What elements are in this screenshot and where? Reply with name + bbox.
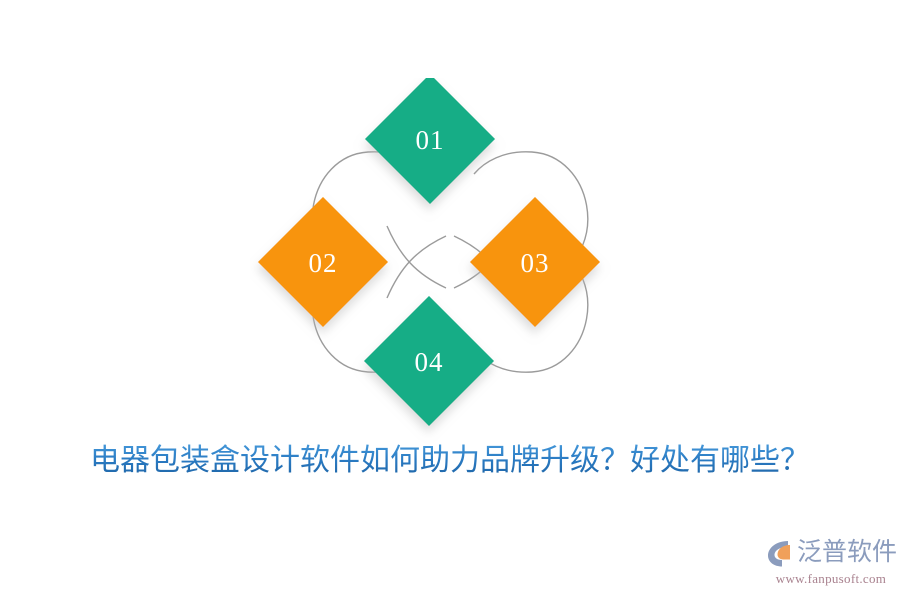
logo-website-url: www.fanpusoft.com: [766, 571, 892, 586]
brand-logo[interactable]: 泛普软件 www.fanpusoft.com: [766, 536, 892, 588]
diamond-node-01[interactable]: 01: [365, 78, 495, 204]
diamond-node-04[interactable]: 04: [364, 296, 494, 426]
diamond-nodes: 01 02 03 04: [258, 78, 600, 426]
page-title: 电器包装盒设计软件如何助力品牌升级？好处有哪些？: [0, 440, 900, 482]
diamond-node-02[interactable]: 02: [258, 197, 388, 327]
logo-company-name: 泛普软件: [797, 538, 897, 568]
fanpu-c-arc-icon: [766, 538, 796, 568]
diagram-svg: 01 02 03 04: [250, 78, 650, 446]
diamond-label-02: 02: [309, 248, 338, 278]
inner-arc-top-left: [387, 226, 446, 288]
page-canvas: 01 02 03 04 电器包装盒设计软件如何: [0, 0, 900, 600]
diamond-label-01: 01: [416, 125, 445, 155]
diamond-label-03: 03: [521, 248, 550, 278]
logo-row: 泛普软件: [766, 536, 892, 570]
inner-arc-bottom-left: [387, 236, 446, 298]
diamond-label-04: 04: [415, 347, 444, 377]
four-diamond-diagram: 01 02 03 04: [250, 78, 650, 446]
diamond-node-03[interactable]: 03: [470, 197, 600, 327]
